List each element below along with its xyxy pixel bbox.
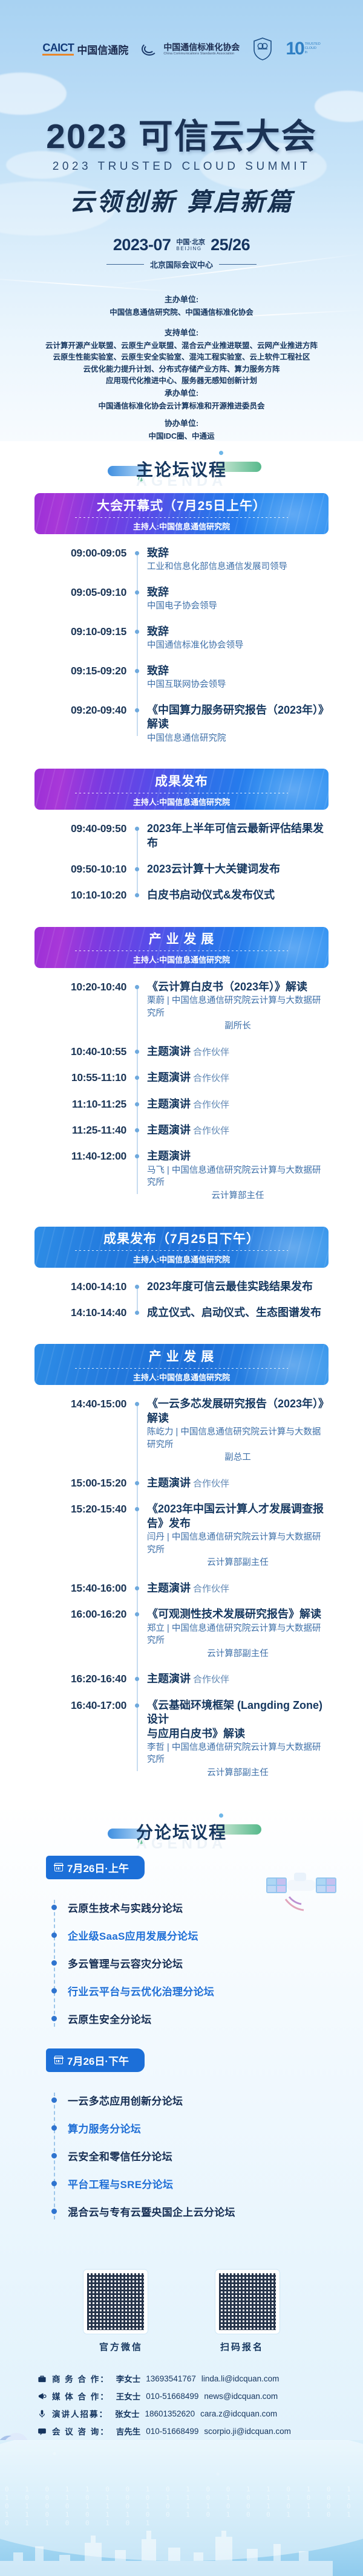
timeline-node-icon bbox=[126, 625, 147, 634]
timeline-node-icon bbox=[126, 1097, 147, 1106]
sub-forum-name: 多云管理与云容灾分论坛 bbox=[68, 1955, 183, 1971]
agenda-time: 15:40-16:00 bbox=[34, 1581, 126, 1595]
agenda-time: 14:10-14:40 bbox=[34, 1306, 126, 1319]
contact-phone[interactable]: 18601352620 bbox=[145, 2409, 195, 2418]
agenda-item-title-text: 主题演讲 bbox=[147, 1124, 191, 1136]
agenda-row[interactable]: 16:20-16:40主题演讲合作伙伴 bbox=[34, 1672, 329, 1686]
agenda-item-partner: 合作伙伴 bbox=[193, 1100, 229, 1110]
agenda-row[interactable]: 14:00-14:102023年度可信云最佳实践结果发布 bbox=[34, 1280, 329, 1294]
bullet-dot-icon bbox=[51, 2125, 57, 2131]
timeline-node-icon bbox=[126, 1045, 147, 1054]
main-agenda-section: AGENDA 主论坛议程 大会开幕式（7月25日上午）主持人:中国信息通信研究院… bbox=[0, 441, 363, 1804]
contact-name: 王女士 bbox=[116, 2390, 141, 2402]
agenda-item-title-text: 2023年上半年可信云最新评估结果发布 bbox=[147, 822, 324, 848]
ccsa-chinese-name: 中国通信标准化协会 bbox=[163, 42, 240, 52]
agenda-block-host: 主持人:中国信息通信研究院 bbox=[133, 1371, 230, 1383]
banner-divider bbox=[75, 793, 288, 793]
qr-official-wechat[interactable] bbox=[83, 2269, 148, 2334]
agenda-row[interactable]: 15:00-15:20主题演讲合作伙伴 bbox=[34, 1476, 329, 1490]
ccsa-english-name: China Communications Standards Associati… bbox=[163, 52, 240, 56]
caict-wordmark: CAICT bbox=[42, 42, 74, 56]
agenda-block-banner: 大会开幕式（7月25日上午）主持人:中国信息通信研究院 bbox=[34, 493, 329, 534]
agenda-row[interactable]: 15:40-16:00主题演讲合作伙伴 bbox=[34, 1581, 329, 1595]
agenda-item-title: 致辞 bbox=[147, 625, 329, 639]
timeline-node-icon bbox=[126, 888, 147, 897]
contact-row: 商 务 合 作：李女士13693541767linda.li@idcquan.c… bbox=[38, 2370, 363, 2387]
sub-forum-day-tag: 7月26日·上午 bbox=[46, 1856, 145, 1879]
agenda-row[interactable]: 10:40-10:55主题演讲合作伙伴 bbox=[34, 1045, 329, 1059]
agenda-time: 15:00-15:20 bbox=[34, 1476, 126, 1490]
main-agenda-title: AGENDA 主论坛议程 bbox=[0, 441, 363, 493]
contact-list: 商 务 合 作：李女士13693541767linda.li@idcquan.c… bbox=[0, 2370, 363, 2440]
swoosh-icon bbox=[142, 42, 160, 56]
agenda-item-speaker: 马飞 | 中国信息通信研究院云计算与大数据研究所 bbox=[147, 1164, 329, 1189]
agenda-item-title-text: 《云计算白皮书（2023年）》解读 bbox=[147, 981, 307, 993]
timeline-node-icon bbox=[126, 546, 147, 555]
timeline-node-icon bbox=[126, 1306, 147, 1315]
sub-forum-name: 行业云平台与云优化治理分论坛 bbox=[68, 1983, 214, 1998]
agenda-time: 09:40-09:50 bbox=[34, 822, 126, 835]
bullet-dot-icon bbox=[51, 1932, 57, 1938]
agenda-time: 10:20-10:40 bbox=[34, 980, 126, 993]
undertaker-heading: 承办单位: bbox=[0, 387, 363, 398]
timeline-node-icon bbox=[126, 980, 147, 989]
agenda-item-speaker: 栗蔚 | 中国信息通信研究院云计算与大数据研究所 bbox=[147, 995, 329, 1019]
agenda-item-title-text: 成立仪式、启动仪式、生态图谱发布 bbox=[147, 1306, 321, 1319]
coorganizer-heading: 协办单位: bbox=[0, 417, 363, 428]
sub-forum-name: 混合云与专有云暨央国企上云分论坛 bbox=[68, 2204, 235, 2219]
agenda-row[interactable]: 16:00-16:20《可观测性技术发展研究报告》解读郑立 | 中国信息通信研究… bbox=[34, 1607, 329, 1660]
agenda-timeline: 09:00-09:05致辞工业和信息化部信息通信发展司领导09:05-09:10… bbox=[34, 534, 329, 751]
agenda-row[interactable]: 09:00-09:05致辞工业和信息化部信息通信发展司领导 bbox=[34, 546, 329, 573]
contact-label: 媒 体 合 作： bbox=[52, 2390, 110, 2402]
agenda-time: 11:40-12:00 bbox=[34, 1149, 126, 1163]
contact-email[interactable]: linda.li@idcquan.com bbox=[201, 2374, 280, 2383]
spacer bbox=[0, 1326, 363, 1344]
agenda-row[interactable]: 14:10-14:40成立仪式、启动仪式、生态图谱发布 bbox=[34, 1306, 329, 1320]
agenda-block-banner: 成果发布主持人:中国信息通信研究院 bbox=[34, 769, 329, 810]
agenda-item-title-text: 主题演讲 bbox=[147, 1477, 191, 1489]
agenda-row[interactable]: 11:40-12:00主题演讲马飞 | 中国信息通信研究院云计算与大数据研究所云… bbox=[34, 1149, 329, 1202]
event-venue: 北京国际会议中心 bbox=[0, 259, 363, 270]
spacer bbox=[0, 751, 363, 769]
agenda-item-speaker: 工业和信息化部信息通信发展司领导 bbox=[147, 561, 329, 573]
agenda-item-title: 2023年上半年可信云最新评估结果发布 bbox=[147, 822, 329, 850]
timeline-node-icon bbox=[126, 1397, 147, 1406]
timeline-node-icon bbox=[126, 586, 147, 595]
agenda-block: 产 业 发 展主持人:中国信息通信研究院10:20-10:40《云计算白皮书（2… bbox=[0, 927, 363, 1227]
banner-divider bbox=[75, 1368, 288, 1369]
agenda-item-title: 主题演讲合作伙伴 bbox=[147, 1071, 329, 1085]
agenda-item-speaker: 中国信息通信研究院 bbox=[147, 732, 329, 745]
agenda-row[interactable]: 16:40-17:00《云基础环境框架 (Langding Zone) 设计 与… bbox=[34, 1699, 329, 1780]
contact-email[interactable]: scorpio.ji@idcquan.com bbox=[204, 2427, 291, 2436]
contact-name: 张女士 bbox=[115, 2407, 140, 2419]
anniversary-number: 10 bbox=[286, 40, 303, 58]
agenda-item-title: 主题演讲合作伙伴 bbox=[147, 1581, 329, 1595]
contact-email[interactable]: cara.z@idcquan.com bbox=[200, 2409, 277, 2418]
timeline-node-icon bbox=[126, 1149, 147, 1158]
agenda-time: 09:05-09:10 bbox=[34, 586, 126, 599]
agenda-item-partner: 合作伙伴 bbox=[193, 1479, 229, 1489]
agenda-block-banner: 产 业 发 展主持人:中国信息通信研究院 bbox=[34, 927, 329, 968]
agenda-block-host: 主持人:中国信息通信研究院 bbox=[133, 796, 230, 807]
agenda-item-speaker: 中国通信标准化协会领导 bbox=[147, 639, 329, 652]
agenda-timeline: 14:00-14:102023年度可信云最佳实践结果发布14:10-14:40成… bbox=[34, 1268, 329, 1326]
caict-chinese-name: 中国信通院 bbox=[77, 45, 128, 56]
qr-registration[interactable] bbox=[215, 2269, 280, 2334]
contact-name: 李女士 bbox=[116, 2372, 141, 2384]
agenda-row[interactable]: 10:55-11:10主题演讲合作伙伴 bbox=[34, 1071, 329, 1085]
bullet-dot-icon bbox=[51, 2097, 57, 2103]
agenda-time: 14:00-14:10 bbox=[34, 1280, 126, 1293]
agenda-item-title: 主题演讲合作伙伴 bbox=[147, 1123, 329, 1137]
mic-icon bbox=[38, 2409, 47, 2418]
agenda-time: 16:00-16:20 bbox=[34, 1607, 126, 1621]
qr-label-registration: 扫码报名 bbox=[220, 2340, 264, 2353]
banner-divider bbox=[75, 1250, 288, 1251]
undertaker-body: 中国通信标准化协会云计算标准和开源推进委员会 bbox=[0, 401, 363, 412]
agenda-block: 产 业 发 展主持人:中国信息通信研究院14:40-15:00《一云多芯发展研究… bbox=[0, 1344, 363, 1803]
bullet-dot-icon bbox=[51, 2153, 57, 2158]
supporter-block: 支持单位: 云计算开源产业联盟、云原生产业联盟、混合云产业推进联盟、云网产业推进… bbox=[0, 326, 363, 387]
caict-logo: CAICT 中国信通院 bbox=[42, 42, 128, 56]
sub-agenda-section: AGENDA 分论坛议程 7月26日·上午云原生技术与实践分论坛企业级SaaS应… bbox=[0, 1804, 363, 2576]
logo-bar: CAICT 中国信通院 中国通信标准化协会 China Communicatio… bbox=[0, 37, 363, 60]
agenda-item-speaker: 陈屹力 | 中国信息通信研究院云计算与大数据研究所 bbox=[147, 1426, 329, 1451]
agenda-item-title: 白皮书启动仪式&发布仪式 bbox=[147, 888, 329, 902]
agenda-time: 10:55-11:10 bbox=[34, 1071, 126, 1084]
agenda-item-title-text: 致辞 bbox=[147, 547, 169, 559]
contact-row: 会 议 咨 询：吉先生010-51668499scorpio.ji@idcqua… bbox=[38, 2423, 363, 2440]
agenda-time: 16:40-17:00 bbox=[34, 1699, 126, 1712]
sub-forum-item[interactable]: 云原生技术与实践分论坛 bbox=[47, 1894, 332, 1922]
bullet-dot-icon bbox=[51, 2016, 57, 2021]
sub-forum-list: 一云多芯应用创新分论坛算力服务分论坛云安全和零信任分论坛平台工程与SRE分论坛混… bbox=[47, 2087, 332, 2226]
agenda-item-title: 主题演讲合作伙伴 bbox=[147, 1045, 329, 1059]
divider-line bbox=[106, 264, 144, 265]
agenda-item-speaker-title: 云计算部主任 bbox=[147, 1190, 329, 1202]
agenda-item-title-text: 致辞 bbox=[147, 665, 169, 677]
contact-email[interactable]: news@idcquan.com bbox=[204, 2392, 278, 2401]
sub-forum-name: 云安全和零信任分论坛 bbox=[68, 2148, 172, 2163]
agenda-row[interactable]: 09:20-09:40《中国算力服务研究报告（2023年）》解读中国信息通信研究… bbox=[34, 703, 329, 744]
tenth-anniversary-logo: 10 TRUSTED CLOUD th bbox=[286, 40, 320, 58]
agenda-item-speaker: 李哲 | 中国信息通信研究院云计算与大数据研究所 bbox=[147, 1742, 329, 1766]
contact-row: 媒 体 合 作：王女士010-51668499news@idcquan.com bbox=[38, 2387, 363, 2405]
agenda-item-title-text: 致辞 bbox=[147, 586, 169, 598]
sub-forum-name: 企业级SaaS应用发展分论坛 bbox=[68, 1928, 198, 1943]
agenda-block: 大会开幕式（7月25日上午）主持人:中国信息通信研究院09:00-09:05致辞… bbox=[0, 493, 363, 769]
sub-forum-day-label: 7月26日·上午 bbox=[67, 1860, 129, 1875]
agenda-item-title-text: 主题演讲 bbox=[147, 1098, 191, 1110]
agenda-item-partner: 合作伙伴 bbox=[193, 1047, 229, 1057]
agenda-block-host: 主持人:中国信息通信研究院 bbox=[133, 520, 230, 532]
agenda-timeline: 14:40-15:00《一云多芯发展研究报告（2023年）》解读陈屹力 | 中国… bbox=[34, 1385, 329, 1785]
agenda-item-title-text: 主题演讲 bbox=[147, 1582, 191, 1594]
sub-forum-day-label: 7月26日·下午 bbox=[67, 2053, 129, 2068]
agenda-time: 09:50-10:10 bbox=[34, 862, 126, 876]
sub-agenda-title: AGENDA 分论坛议程 bbox=[0, 1804, 363, 1856]
agenda-item-title: 主题演讲合作伙伴 bbox=[147, 1097, 329, 1111]
sub-forum-name: 云原生安全分论坛 bbox=[68, 2011, 151, 2026]
footer-decoration: 0 1 0 1 1 0 0 1 0 1 0 0 1 1 0 1 0 1 1 0 … bbox=[0, 2440, 363, 2576]
timeline-node-icon bbox=[126, 1071, 147, 1080]
timeline-node-icon bbox=[126, 1699, 147, 1708]
sub-forum-day: 7月26日·下午一云多芯应用创新分论坛算力服务分论坛云安全和零信任分论坛平台工程… bbox=[0, 2048, 363, 2241]
agenda-row[interactable]: 14:40-15:00《一云多芯发展研究报告（2023年）》解读陈屹力 | 中国… bbox=[34, 1397, 329, 1464]
agenda-item-title: 致辞 bbox=[147, 586, 329, 599]
agenda-row[interactable]: 10:10-10:20白皮书启动仪式&发布仪式 bbox=[34, 888, 329, 902]
agenda-row[interactable]: 15:20-15:40《2023年中国云计算人才发展调查报告》发布闫丹 | 中国… bbox=[34, 1502, 329, 1569]
supporter-body: 云计算开源产业联盟、云原生产业联盟、混合云产业推进联盟、云网产业推进方阵 云原生… bbox=[0, 340, 363, 387]
timeline-node-icon bbox=[126, 664, 147, 673]
timeline-node-icon bbox=[126, 1502, 147, 1511]
sub-forum-name: 云原生技术与实践分论坛 bbox=[68, 1900, 183, 1915]
agenda-item-partner: 合作伙伴 bbox=[193, 1584, 229, 1594]
agenda-time: 11:25-11:40 bbox=[34, 1123, 126, 1137]
agenda-block-title: 产 业 发 展 bbox=[149, 1347, 215, 1365]
event-city-cn: 中国·北京 bbox=[176, 239, 205, 247]
agenda-block: 成果发布（7月25日下午）主持人:中国信息通信研究院14:00-14:10202… bbox=[0, 1227, 363, 1344]
agenda-item-partner: 合作伙伴 bbox=[193, 1674, 229, 1685]
contact-phone[interactable]: 010-51668499 bbox=[146, 2392, 198, 2401]
agenda-item-speaker: 闫丹 | 中国信息通信研究院云计算与大数据研究所 bbox=[147, 1531, 329, 1556]
agenda-item-title-text: 白皮书启动仪式&发布仪式 bbox=[147, 889, 275, 901]
agenda-block-title: 成果发布 bbox=[155, 772, 208, 790]
sub-agenda-heading: 分论坛议程 bbox=[136, 1823, 227, 1842]
agenda-block-banner: 成果发布（7月25日下午）主持人:中国信息通信研究院 bbox=[34, 1227, 329, 1268]
dot-decor bbox=[219, 451, 223, 455]
banner-divider bbox=[75, 951, 288, 951]
agenda-time: 09:10-09:15 bbox=[34, 625, 126, 638]
agenda-item-title: 《一云多芯发展研究报告（2023年）》解读 bbox=[147, 1397, 329, 1425]
agenda-row[interactable]: 09:05-09:10致辞中国电子协会领导 bbox=[34, 586, 329, 613]
megaphone-icon bbox=[38, 2392, 47, 2401]
anniversary-label-th: th bbox=[305, 51, 308, 54]
banner-glow-decor bbox=[238, 769, 329, 810]
bullet-dot-icon bbox=[51, 2209, 57, 2214]
agenda-item-title: 《云计算白皮书（2023年）》解读 bbox=[147, 980, 329, 994]
agenda-item-speaker-title: 云计算部副主任 bbox=[147, 1648, 329, 1661]
agenda-item-title-text: 2023年度可信云最佳实践结果发布 bbox=[147, 1280, 313, 1293]
agenda-row[interactable]: 11:25-11:40主题演讲合作伙伴 bbox=[34, 1123, 329, 1137]
agenda-row[interactable]: 11:10-11:25主题演讲合作伙伴 bbox=[34, 1097, 329, 1111]
agenda-timeline: 10:20-10:40《云计算白皮书（2023年）》解读栗蔚 | 中国信息通信研… bbox=[34, 968, 329, 1209]
contact-label: 会 议 咨 询： bbox=[52, 2425, 110, 2437]
event-month: 2023-07 bbox=[113, 236, 171, 254]
agenda-item-speaker-title: 云计算部副主任 bbox=[147, 1767, 329, 1780]
agenda-item-partner: 合作伙伴 bbox=[193, 1073, 229, 1083]
contact-row: 演讲人招募：张女士18601352620cara.z@idcquan.com bbox=[38, 2405, 363, 2423]
agenda-time: 09:15-09:20 bbox=[34, 664, 126, 677]
agenda-time: 16:20-16:40 bbox=[34, 1672, 126, 1685]
contact-phone[interactable]: 13693541767 bbox=[146, 2374, 196, 2383]
agenda-row[interactable]: 09:15-09:20致辞中国互联网协会领导 bbox=[34, 664, 329, 691]
agenda-item-title-text: 《云基础环境框架 (Langding Zone) 设计 与应用白皮书》解读 bbox=[147, 1699, 322, 1740]
calendar-icon bbox=[54, 1863, 63, 1871]
agenda-row[interactable]: 10:20-10:40《云计算白皮书（2023年）》解读栗蔚 | 中国信息通信研… bbox=[34, 980, 329, 1033]
anniversary-label-trusted: TRUSTED bbox=[305, 42, 321, 46]
bullet-dot-icon bbox=[51, 1960, 57, 1966]
agenda-item-title-text: 《2023年中国云计算人才发展调查报告》发布 bbox=[147, 1503, 324, 1529]
agenda-item-title: 2023云计算十大关键词发布 bbox=[147, 862, 329, 876]
briefcase-icon bbox=[38, 2374, 47, 2383]
agenda-row[interactable]: 09:10-09:15致辞中国通信标准化协会领导 bbox=[34, 625, 329, 652]
agenda-item-title-text: 《可观测性技术发展研究报告》解读 bbox=[147, 1608, 321, 1620]
agenda-item-title: 致辞 bbox=[147, 546, 329, 560]
agenda-time: 11:10-11:25 bbox=[34, 1097, 126, 1111]
sub-forum-item[interactable]: 算力服务分论坛 bbox=[47, 2114, 332, 2142]
contact-label: 商 务 合 作： bbox=[52, 2372, 110, 2384]
agenda-time: 10:40-10:55 bbox=[34, 1045, 126, 1058]
bullet-dot-icon bbox=[51, 1905, 57, 1910]
agenda-item-title: 《中国算力服务研究报告（2023年）》解读 bbox=[147, 703, 329, 732]
timeline-node-icon bbox=[126, 822, 147, 831]
event-days: 25/26 bbox=[211, 236, 250, 254]
agenda-item-title: 《2023年中国云计算人才发展调查报告》发布 bbox=[147, 1502, 329, 1531]
agenda-block-title: 大会开幕式（7月25日上午） bbox=[97, 496, 266, 514]
agenda-item-title: 《可观测性技术发展研究报告》解读 bbox=[147, 1607, 329, 1621]
undertaker-block: 承办单位: 中国通信标准化协会云计算标准和开源推进委员会 bbox=[0, 387, 363, 412]
timeline-node-icon bbox=[126, 1672, 147, 1681]
anniversary-label-cloud: CLOUD bbox=[305, 47, 316, 50]
agenda-time: 09:00-09:05 bbox=[34, 546, 126, 560]
qr-image bbox=[219, 2273, 276, 2330]
event-city-en: BEIJING bbox=[176, 246, 205, 251]
agenda-time: 15:20-15:40 bbox=[34, 1502, 126, 1516]
contact-label: 演讲人招募： bbox=[52, 2407, 108, 2419]
timeline-node-icon bbox=[126, 703, 147, 712]
event-dateline: 2023-07 中国·北京 BEIJING 25/26 bbox=[0, 236, 363, 254]
organizer-body: 中国信息通信研究院、中国通信标准化协会 bbox=[0, 307, 363, 318]
timeline-node-icon bbox=[126, 1123, 147, 1132]
organizer-heading: 主办单位: bbox=[0, 293, 363, 305]
agenda-item-title-text: 主题演讲 bbox=[147, 1150, 191, 1162]
agenda-item-title-text: 2023云计算十大关键词发布 bbox=[147, 863, 280, 875]
banner-glow-decor bbox=[238, 927, 329, 968]
bullet-dot-icon bbox=[51, 1988, 57, 1993]
sub-forum-item[interactable]: 行业云平台与云优化治理分论坛 bbox=[47, 1977, 332, 2005]
sub-forum-name: 平台工程与SRE分论坛 bbox=[68, 2176, 173, 2191]
contact-phone[interactable]: 010-51668499 bbox=[146, 2427, 198, 2436]
agenda-item-speaker-title: 副所长 bbox=[147, 1020, 329, 1033]
qr-label-official-wechat: 官方微信 bbox=[99, 2340, 143, 2353]
spacer bbox=[0, 1786, 363, 1804]
banner-glow-decor bbox=[238, 1344, 329, 1385]
agenda-item-title: 主题演讲合作伙伴 bbox=[147, 1672, 329, 1686]
agenda-item-speaker-title: 副总工 bbox=[147, 1451, 329, 1464]
hero-banner: CAICT 中国信通院 中国通信标准化协会 China Communicatio… bbox=[0, 0, 363, 441]
event-slogan: 云领创新 算启新篇 bbox=[0, 181, 363, 218]
event-title-english: 2023 TRUSTED CLOUD SUMMIT bbox=[0, 160, 363, 173]
divider-line bbox=[219, 264, 257, 265]
sub-forum-name: 算力服务分论坛 bbox=[68, 2120, 141, 2135]
agenda-block: 成果发布主持人:中国信息通信研究院09:40-09:502023年上半年可信云最… bbox=[0, 769, 363, 927]
agenda-item-title-text: 主题演讲 bbox=[147, 1045, 191, 1057]
coorganizer-block: 协办单位: 中国IDC圈、中通运 bbox=[0, 417, 363, 441]
sub-forum-item[interactable]: 企业级SaaS应用发展分论坛 bbox=[47, 1922, 332, 1949]
sub-forum-item[interactable]: 一云多芯应用创新分论坛 bbox=[47, 2087, 332, 2114]
agenda-time: 14:40-15:00 bbox=[34, 1397, 126, 1410]
timeline-node-icon bbox=[126, 1280, 147, 1289]
event-title: 2023 可信云大会 bbox=[0, 109, 363, 158]
spacer bbox=[0, 909, 363, 927]
organizer-block: 主办单位: 中国信息通信研究院、中国通信标准化协会 bbox=[0, 293, 363, 318]
agenda-block-banner: 产 业 发 展主持人:中国信息通信研究院 bbox=[34, 1344, 329, 1385]
venue-name: 北京国际会议中心 bbox=[150, 259, 213, 270]
spacer bbox=[0, 1209, 363, 1227]
agenda-item-title: 2023年度可信云最佳实践结果发布 bbox=[147, 1280, 329, 1294]
agenda-item-title-text: 主题演讲 bbox=[147, 1071, 191, 1083]
timeline-node-icon bbox=[126, 862, 147, 871]
agenda-item-title: 主题演讲合作伙伴 bbox=[147, 1476, 329, 1490]
sub-forum-item[interactable]: 多云管理与云容灾分论坛 bbox=[47, 1949, 332, 1977]
qr-code-area bbox=[0, 2241, 363, 2334]
timeline-node-icon bbox=[126, 1581, 147, 1590]
timeline-node-icon bbox=[126, 1476, 147, 1485]
agenda-time: 10:10-10:20 bbox=[34, 888, 126, 902]
shield-cloud-icon bbox=[253, 37, 272, 60]
sub-forum-day-tag: 7月26日·下午 bbox=[46, 2048, 145, 2072]
contact-name: 吉先生 bbox=[116, 2425, 141, 2437]
agenda-item-title: 《云基础环境框架 (Langding Zone) 设计 与应用白皮书》解读 bbox=[147, 1699, 329, 1741]
agenda-item-speaker: 中国电子协会领导 bbox=[147, 600, 329, 613]
agenda-timeline: 09:40-09:502023年上半年可信云最新评估结果发布09:50-10:1… bbox=[34, 810, 329, 909]
agenda-item-title: 致辞 bbox=[147, 664, 329, 678]
agenda-item-partner: 合作伙伴 bbox=[193, 1126, 229, 1136]
agenda-item-speaker: 郑立 | 中国信息通信研究院云计算与大数据研究所 bbox=[147, 1622, 329, 1647]
agenda-block-host: 主持人:中国信息通信研究院 bbox=[133, 954, 230, 965]
agenda-item-speaker: 中国互联网协会领导 bbox=[147, 679, 329, 691]
sub-forum-item[interactable]: 云安全和零信任分论坛 bbox=[47, 2142, 332, 2170]
city-skyline-decor bbox=[0, 2519, 363, 2576]
calendar-icon bbox=[54, 2056, 63, 2064]
agenda-item-title-text: 《一云多芯发展研究报告（2023年）》解读 bbox=[147, 1398, 324, 1424]
coorganizer-body: 中国IDC圈、中通运 bbox=[0, 431, 363, 441]
qr-image bbox=[87, 2273, 144, 2330]
agenda-row[interactable]: 09:50-10:102023云计算十大关键词发布 bbox=[34, 862, 329, 876]
banner-divider bbox=[75, 517, 288, 518]
agenda-item-title-text: 《中国算力服务研究报告（2023年）》解读 bbox=[147, 704, 324, 730]
agenda-item-title: 主题演讲 bbox=[147, 1149, 329, 1163]
agenda-item-title-text: 主题演讲 bbox=[147, 1673, 191, 1685]
supporter-heading: 支持单位: bbox=[0, 326, 363, 338]
ccsa-logo: 中国通信标准化协会 China Communications Standards… bbox=[142, 42, 240, 56]
agenda-block-title: 成果发布（7月25日下午） bbox=[103, 1229, 260, 1247]
sub-forum-item[interactable]: 混合云与专有云暨央国企上云分论坛 bbox=[47, 2198, 332, 2226]
agenda-item-title: 成立仪式、启动仪式、生态图谱发布 bbox=[147, 1306, 329, 1320]
agenda-block-title: 产 业 发 展 bbox=[149, 929, 215, 947]
sub-forum-item[interactable]: 平台工程与SRE分论坛 bbox=[47, 2170, 332, 2198]
agenda-row[interactable]: 09:40-09:502023年上半年可信云最新评估结果发布 bbox=[34, 822, 329, 850]
agenda-item-speaker-title: 云计算部副主任 bbox=[147, 1557, 329, 1569]
sub-forum-list: 云原生技术与实践分论坛企业级SaaS应用发展分论坛多云管理与云容灾分论坛行业云平… bbox=[47, 1894, 332, 2033]
sub-forum-item[interactable]: 云原生安全分论坛 bbox=[47, 2005, 332, 2033]
agenda-block-host: 主持人:中国信息通信研究院 bbox=[133, 1253, 230, 1265]
agenda-time: 09:20-09:40 bbox=[34, 703, 126, 717]
bullet-dot-icon bbox=[51, 2181, 57, 2186]
timeline-node-icon bbox=[126, 1607, 147, 1616]
agenda-item-title-text: 致辞 bbox=[147, 625, 169, 638]
main-agenda-heading: 主论坛议程 bbox=[136, 460, 227, 479]
sub-forum-name: 一云多芯应用创新分论坛 bbox=[68, 2093, 183, 2108]
dot-decor bbox=[219, 1813, 223, 1818]
